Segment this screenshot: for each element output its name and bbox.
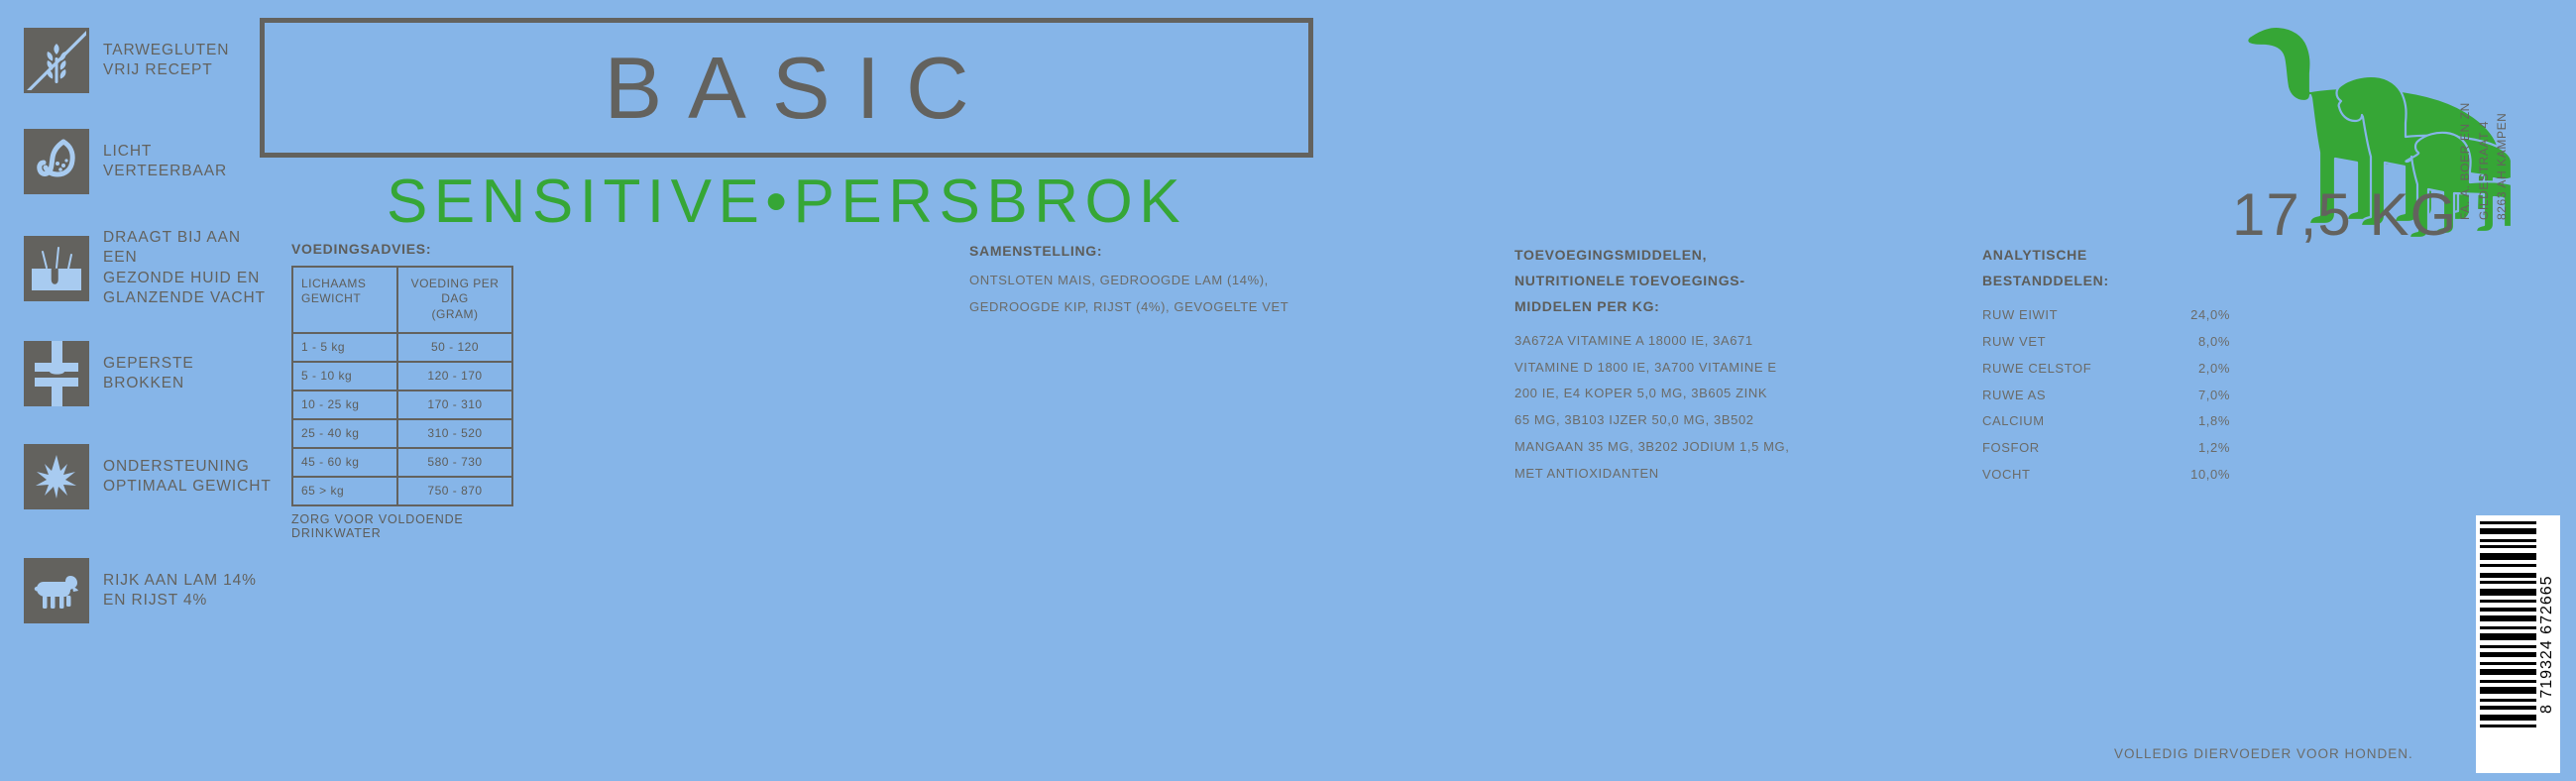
additives-body: 3A672A VITAMINE A 18000 IE, 3A671 VITAMI… bbox=[1514, 328, 1951, 488]
barcode: 8 719324 672665 bbox=[2476, 515, 2560, 773]
cell-bodyweight: 65 > kg bbox=[292, 477, 397, 505]
analytical-value: 2,0% bbox=[2175, 356, 2230, 383]
table-row: 1 - 5 kg 50 - 120 bbox=[292, 333, 512, 362]
feature-item-skin-coat: DRAAGT BIJ AAN EEN GEZONDE HUID EN GLANZ… bbox=[24, 228, 277, 309]
cell-bodyweight: 1 - 5 kg bbox=[292, 333, 397, 362]
manufacturer-address: FA. A. BOER EN ZN GILDESTRAAT 4 8263 AH … bbox=[2456, 22, 2512, 220]
feature-label: TARWEGLUTEN VRIJ RECEPT bbox=[103, 41, 229, 81]
analytical-value: 8,0% bbox=[2175, 329, 2230, 356]
list-item: CALCIUM 1,8% bbox=[1982, 408, 2230, 435]
hair-follicle-skin-coat-icon bbox=[24, 236, 89, 301]
list-item: RUWE AS 7,0% bbox=[1982, 383, 2230, 409]
table-row: 5 - 10 kg 120 - 170 bbox=[292, 362, 512, 390]
cell-bodyweight: 45 - 60 kg bbox=[292, 448, 397, 477]
table-row: 65 > kg 750 - 870 bbox=[292, 477, 512, 505]
composition-body: ONTSLOTEN MAIS, GEDROOGDE LAM (14%), GED… bbox=[969, 268, 1445, 321]
feature-label: DRAAGT BIJ AAN EEN GEZONDE HUID EN GLANZ… bbox=[103, 228, 277, 309]
analytical-name: CALCIUM bbox=[1982, 408, 2045, 435]
cell-amount: 50 - 120 bbox=[397, 333, 512, 362]
net-weight-label: 17,5 KG bbox=[2232, 180, 2457, 249]
additives-section: TOEVOEGINGSMIDDELEN, NUTRITIONELE TOEVOE… bbox=[1514, 243, 1951, 488]
stomach-digestion-icon bbox=[24, 129, 89, 194]
additives-heading: TOEVOEGINGSMIDDELEN, NUTRITIONELE TOEVOE… bbox=[1514, 243, 1951, 320]
cell-bodyweight: 10 - 25 kg bbox=[292, 390, 397, 419]
feature-item-gluten-free: TARWEGLUTEN VRIJ RECEPT bbox=[24, 28, 229, 93]
list-item: RUWE CELSTOF 2,0% bbox=[1982, 356, 2230, 383]
analytical-section: ANALYTISCHE BESTANDDELEN: RUW EIWIT 24,0… bbox=[1982, 243, 2230, 489]
analytical-list: RUW EIWIT 24,0% RUW VET 8,0% RUWE CELSTO… bbox=[1982, 302, 2230, 489]
cell-bodyweight: 5 - 10 kg bbox=[292, 362, 397, 390]
barcode-number: 8 719324 672665 bbox=[2536, 515, 2558, 773]
product-subtitle: SENSITIVE•PERSBROK bbox=[260, 167, 1313, 237]
table-row: 25 - 40 kg 310 - 520 bbox=[292, 419, 512, 448]
analytical-name: RUWE CELSTOF bbox=[1982, 356, 2091, 383]
table-row: 10 - 25 kg 170 - 310 bbox=[292, 390, 512, 419]
composition-heading: SAMENSTELLING: bbox=[969, 243, 1445, 260]
cell-amount: 750 - 870 bbox=[397, 477, 512, 505]
package-label: TARWEGLUTEN VRIJ RECEPT LICHT bbox=[0, 0, 2576, 781]
page-title: BASIC bbox=[578, 38, 994, 139]
analytical-name: RUWE AS bbox=[1982, 383, 2046, 409]
list-item: RUW EIWIT 24,0% bbox=[1982, 302, 2230, 329]
column-header-daily-amount: VOEDING PER DAG (GRAM) bbox=[397, 267, 512, 333]
analytical-heading: ANALYTISCHE BESTANDDELEN: bbox=[1982, 243, 2230, 294]
feature-label: GEPERSTE BROKKEN bbox=[103, 354, 277, 394]
feature-label: ONDERSTEUNING OPTIMAAL GEWICHT bbox=[103, 457, 272, 498]
analytical-value: 7,0% bbox=[2175, 383, 2230, 409]
analytical-name: RUW EIWIT bbox=[1982, 302, 2058, 329]
list-item: RUW VET 8,0% bbox=[1982, 329, 2230, 356]
feeding-advice-section: VOEDINGSADVIES: LICHAAMS GEWICHT VOEDING… bbox=[291, 241, 519, 540]
feeding-table: LICHAAMS GEWICHT VOEDING PER DAG (GRAM) … bbox=[291, 266, 513, 506]
analytical-name: VOCHT bbox=[1982, 462, 2031, 489]
analytical-value: 1,8% bbox=[2175, 408, 2230, 435]
cell-amount: 310 - 520 bbox=[397, 419, 512, 448]
drinking-water-note: ZORG VOOR VOLDOENDE DRINKWATER bbox=[291, 512, 519, 540]
lamb-sheep-icon bbox=[24, 558, 89, 623]
table-header-row: LICHAAMS GEWICHT VOEDING PER DAG (GRAM) bbox=[292, 267, 512, 333]
analytical-value: 10,0% bbox=[2175, 462, 2230, 489]
column-header-bodyweight: LICHAAMS GEWICHT bbox=[292, 267, 397, 333]
analytical-value: 1,2% bbox=[2175, 435, 2230, 462]
analytical-value: 24,0% bbox=[2175, 302, 2230, 329]
list-item: VOCHT 10,0% bbox=[1982, 462, 2230, 489]
analytical-name: RUW VET bbox=[1982, 329, 2046, 356]
list-item: FOSFOR 1,2% bbox=[1982, 435, 2230, 462]
feature-item-optimal-weight: ONDERSTEUNING OPTIMAAL GEWICHT bbox=[24, 444, 272, 509]
feature-item-lamb-rice: RIJK AAN LAM 14% EN RIJST 4% bbox=[24, 558, 257, 623]
cell-amount: 170 - 310 bbox=[397, 390, 512, 419]
barcode-bars bbox=[2480, 521, 2536, 767]
table-row: 45 - 60 kg 580 - 730 bbox=[292, 448, 512, 477]
cell-bodyweight: 25 - 40 kg bbox=[292, 419, 397, 448]
feature-label: RIJK AAN LAM 14% EN RIJST 4% bbox=[103, 571, 257, 612]
cell-amount: 580 - 730 bbox=[397, 448, 512, 477]
feature-item-digestible: LICHT VERTEERBAAR bbox=[24, 129, 277, 194]
composition-section: SAMENSTELLING: ONTSLOTEN MAIS, GEDROOGDE… bbox=[969, 243, 1445, 321]
brand-title-box: BASIC bbox=[260, 18, 1313, 158]
feature-item-pressed-kibble: GEPERSTE BROKKEN bbox=[24, 341, 277, 406]
feeding-advice-heading: VOEDINGSADVIES: bbox=[291, 241, 519, 258]
feature-list: TARWEGLUTEN VRIJ RECEPT LICHT bbox=[24, 8, 277, 776]
energy-burst-weight-icon bbox=[24, 444, 89, 509]
cell-amount: 120 - 170 bbox=[397, 362, 512, 390]
feature-label: LICHT VERTEERBAAR bbox=[103, 142, 277, 182]
pressed-kibble-icon bbox=[24, 341, 89, 406]
analytical-name: FOSFOR bbox=[1982, 435, 2040, 462]
complete-food-statement: VOLLEDIG DIERVOEDER VOOR HONDEN. bbox=[2114, 746, 2413, 761]
wheat-gluten-free-icon bbox=[24, 28, 89, 93]
